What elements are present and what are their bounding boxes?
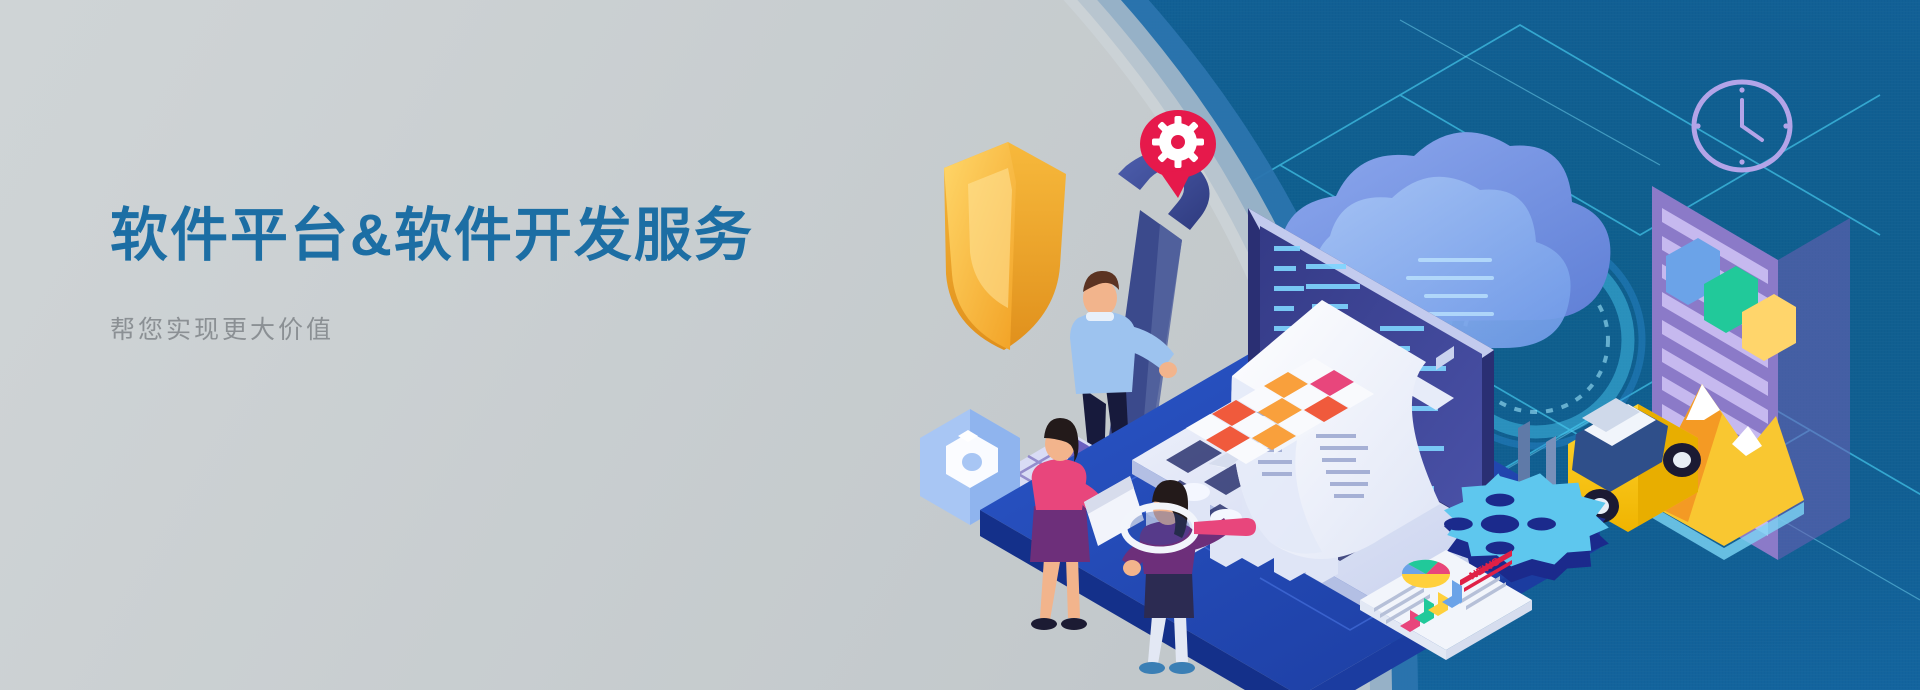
page-subtitle: 帮您实现更大价值 [110,310,870,346]
pie-chart-icon [1402,560,1450,588]
hero-illustration: NEWS [860,40,1920,690]
clock-icon [1694,82,1790,170]
page-title: 软件平台&软件开发服务 [110,202,870,270]
headline-block: 软件平台&软件开发服务 帮您实现更大价值 [110,202,870,346]
hero-banner: 软件平台&软件开发服务 帮您实现更大价值 [0,0,1920,690]
shield-icon [944,142,1066,350]
